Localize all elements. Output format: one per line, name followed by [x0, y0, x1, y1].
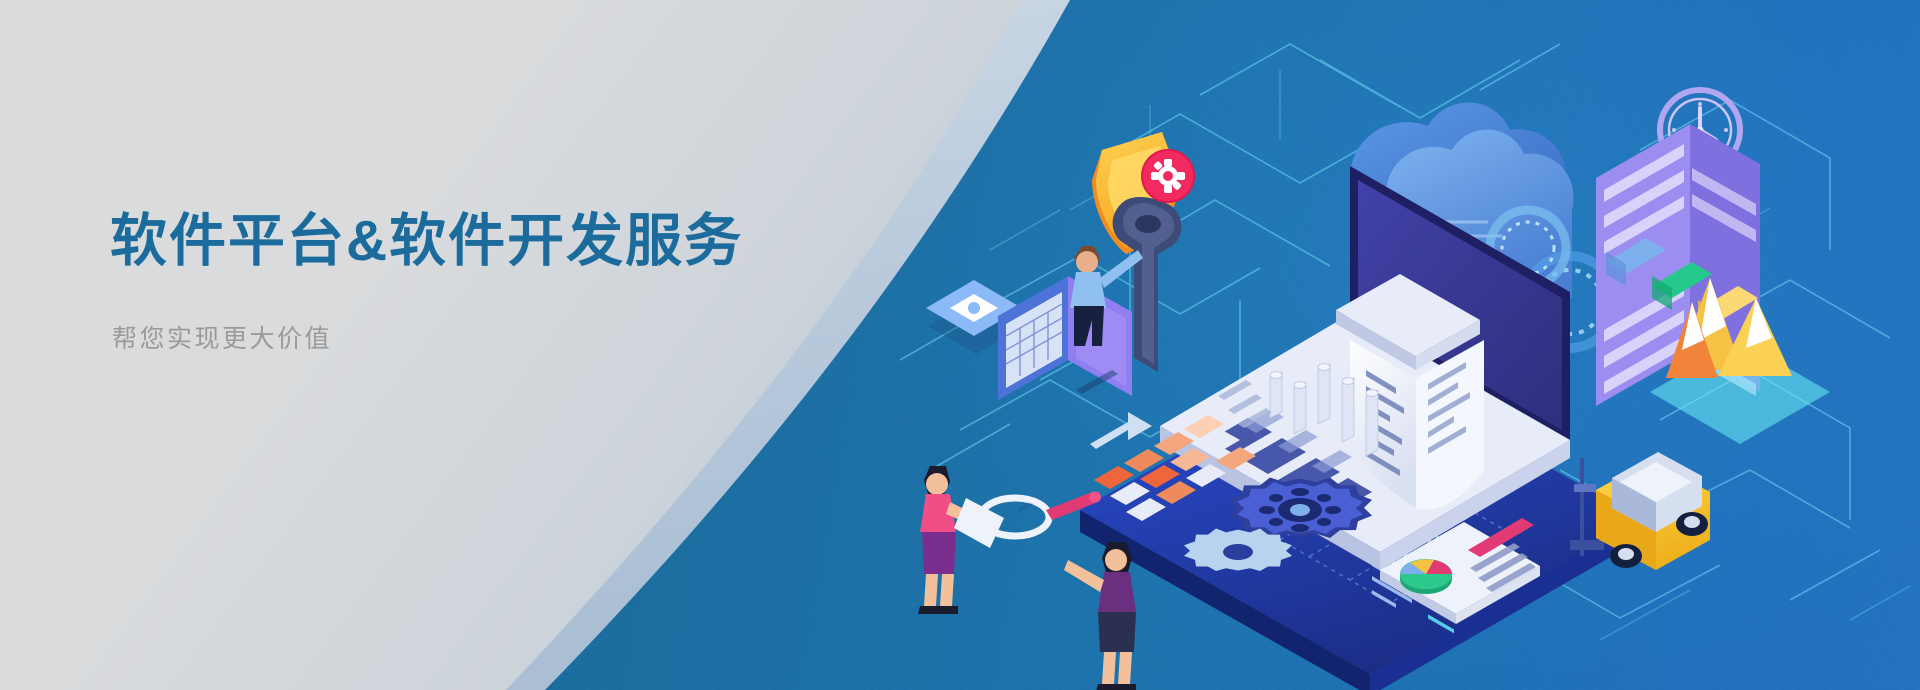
- gear-badge-icon: [1141, 149, 1195, 203]
- gear-small-icon: [1184, 528, 1292, 571]
- arrow-up-icon: [1090, 412, 1152, 449]
- page-subtitle: 帮您实现更大价值: [112, 319, 743, 355]
- page-title: 软件平台&软件开发服务: [110, 208, 743, 275]
- isometric-illustration: [880, 40, 1920, 690]
- calendar-icon: [998, 276, 1132, 400]
- banner-text-block: 软件平台&软件开发服务 帮您实现更大价值: [110, 208, 743, 355]
- person-analyst-pink: [918, 466, 1004, 614]
- hero-banner: 软件平台&软件开发服务 帮您实现更大价值: [0, 0, 1920, 690]
- person-analyst-purple: [1064, 542, 1136, 690]
- gear-large-icon: [1228, 478, 1372, 538]
